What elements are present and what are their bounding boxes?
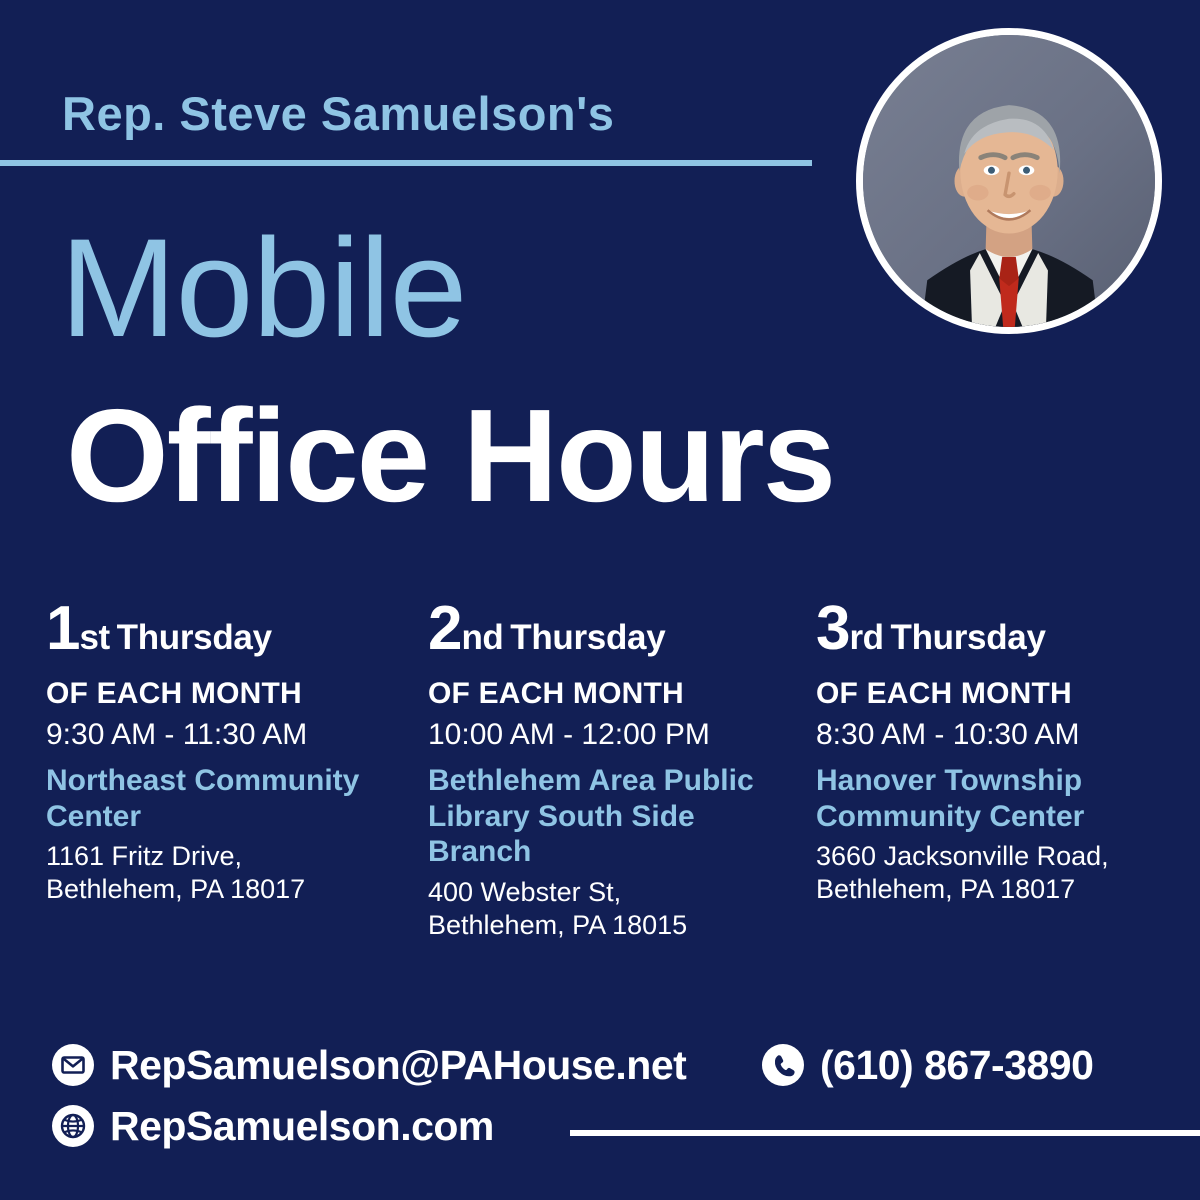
address-line-2: Bethlehem, PA 18017 <box>46 873 418 906</box>
address-line-2: Bethlehem, PA 18015 <box>428 909 800 942</box>
ordinal-number: 1 <box>46 594 79 663</box>
ordinal-number: 3 <box>816 594 849 663</box>
venue-name: Northeast Community Center <box>46 763 418 834</box>
contact-email-row[interactable]: RepSamuelson@PAHouse.net <box>52 1044 686 1086</box>
ordinal-number: 2 <box>428 594 461 663</box>
portrait-illustration <box>863 35 1155 327</box>
header-divider <box>0 160 812 166</box>
schedule-column-2: 2ndThursday OF EACH MONTH 10:00 AM - 12:… <box>428 598 800 941</box>
email-address: RepSamuelson@PAHouse.net <box>110 1045 686 1086</box>
phone-icon <box>762 1044 804 1086</box>
schedule-column-1: 1stThursday OF EACH MONTH 9:30 AM - 11:3… <box>46 598 418 906</box>
envelope-icon <box>52 1044 94 1086</box>
globe-icon <box>52 1105 94 1147</box>
address-line-1: 1161 Fritz Drive, <box>46 840 418 873</box>
frequency-label: OF EACH MONTH <box>816 676 1188 711</box>
time-range: 9:30 AM - 11:30 AM <box>46 717 418 753</box>
weekday-label: Thursday <box>890 618 1045 657</box>
contact-phone-row[interactable]: (610) 867-3890 <box>762 1044 1093 1086</box>
poster-canvas: Rep. Steve Samuelson's Mobile Office Hou… <box>0 0 1200 1200</box>
column-2-heading: 2ndThursday <box>428 598 800 660</box>
venue-name: Bethlehem Area Public Library South Side… <box>428 763 800 869</box>
address-line-1: 400 Webster St, <box>428 876 800 909</box>
venue-name: Hanover Township Community Center <box>816 763 1188 834</box>
ordinal-suffix: st <box>79 618 109 657</box>
ordinal-suffix: rd <box>849 618 883 657</box>
column-1-heading: 1stThursday <box>46 598 418 660</box>
weekday-label: Thursday <box>510 618 665 657</box>
page-eyebrow: Rep. Steve Samuelson's <box>62 86 614 141</box>
weekday-label: Thursday <box>117 618 272 657</box>
portrait-photo <box>856 28 1162 334</box>
time-range: 10:00 AM - 12:00 PM <box>428 717 800 753</box>
address-line-2: Bethlehem, PA 18017 <box>816 873 1188 906</box>
contact-website-row[interactable]: RepSamuelson.com <box>52 1105 494 1147</box>
frequency-label: OF EACH MONTH <box>428 676 800 711</box>
footer-divider <box>570 1130 1200 1136</box>
website-url: RepSamuelson.com <box>110 1106 494 1147</box>
phone-number: (610) 867-3890 <box>820 1045 1093 1086</box>
page-title-line1: Mobile <box>60 218 466 358</box>
frequency-label: OF EACH MONTH <box>46 676 418 711</box>
time-range: 8:30 AM - 10:30 AM <box>816 717 1188 753</box>
column-3-heading: 3rdThursday <box>816 598 1188 660</box>
ordinal-suffix: nd <box>461 618 503 657</box>
address-line-1: 3660 Jacksonville Road, <box>816 840 1188 873</box>
page-title-line2: Office Hours <box>66 390 834 522</box>
schedule-column-3: 3rdThursday OF EACH MONTH 8:30 AM - 10:3… <box>816 598 1188 906</box>
